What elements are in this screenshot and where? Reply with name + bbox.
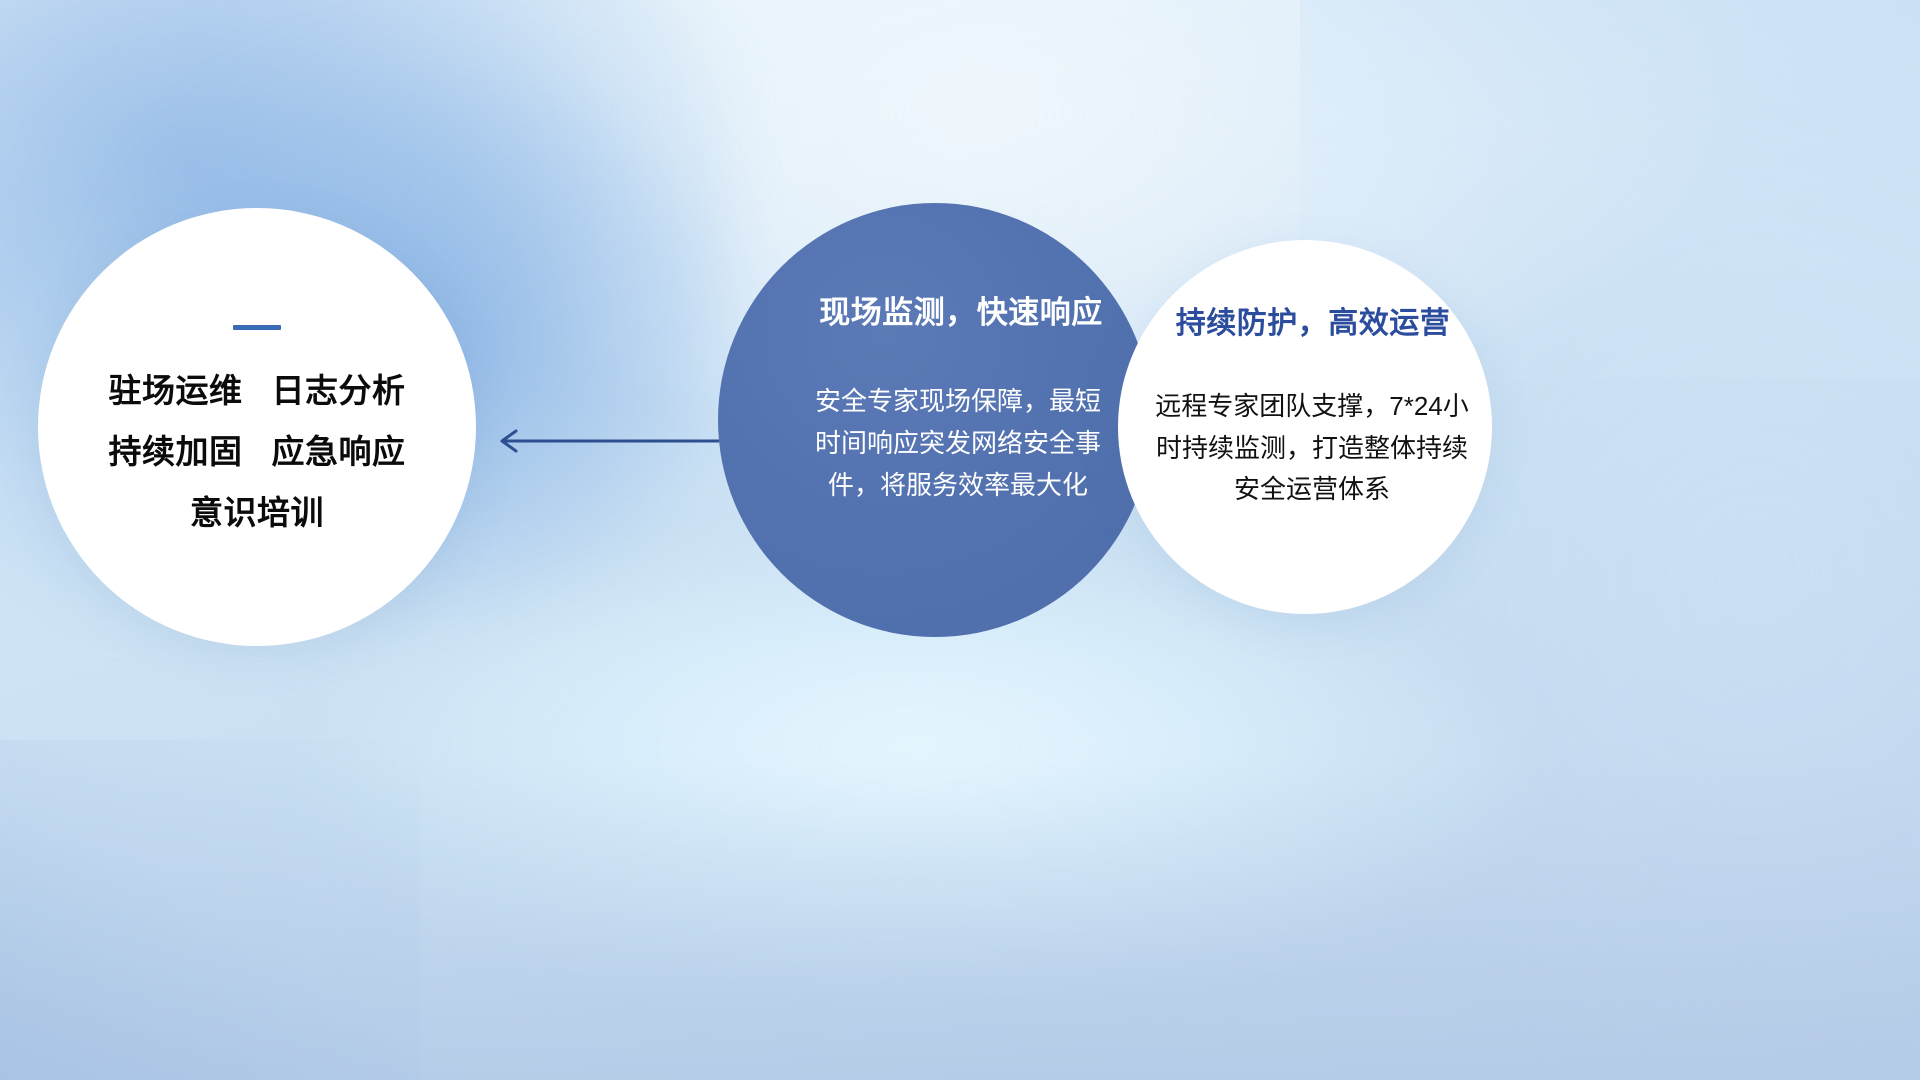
onsite-monitoring-title: 现场监测，快速响应: [819, 287, 1103, 332]
continuous-protection-body: 远程专家团队支撑，7*24小时持续监测，打造整体持续安全运营体系: [1144, 386, 1480, 511]
slide-canvas: 驻场运维 日志分析 持续加固 应急响应 意识培训 现场监测，快速响应 安全专家现…: [0, 0, 1920, 1080]
onsite-monitoring-body: 安全专家现场保障，最短时间响应突发网络安全事件，将服务效率最大化: [808, 380, 1108, 506]
dash-separator-icon: [233, 325, 281, 330]
leftward-flow-arrow: [488, 424, 720, 458]
driver-capability-content: 驻场运维 日志分析 持续加固 应急响应 意识培训: [38, 208, 476, 646]
capability-line-3: 意识培训: [190, 496, 324, 529]
continuous-protection-content: 持续防护，高效运营 远程专家团队支撑，7*24小时持续监测，打造整体持续安全运营…: [1118, 240, 1492, 614]
onsite-monitoring-content: 现场监测，快速响应 安全专家现场保障，最短时间响应突发网络安全事件，将服务效率最…: [718, 203, 1152, 637]
capability-line-2: 持续加固 应急响应: [108, 435, 405, 468]
capability-line-1: 驻场运维 日志分析: [108, 374, 405, 407]
continuous-protection-circle: 持续防护，高效运营 远程专家团队支撑，7*24小时持续监测，打造整体持续安全运营…: [1118, 240, 1492, 614]
onsite-monitoring-circle: 现场监测，快速响应 安全专家现场保障，最短时间响应突发网络安全事件，将服务效率最…: [718, 203, 1152, 637]
background-bottom-left-wash: [0, 740, 420, 1080]
driver-capability-circle: 驻场运维 日志分析 持续加固 应急响应 意识培训: [38, 208, 476, 646]
continuous-protection-title: 持续防护，高效运营: [1176, 298, 1451, 342]
